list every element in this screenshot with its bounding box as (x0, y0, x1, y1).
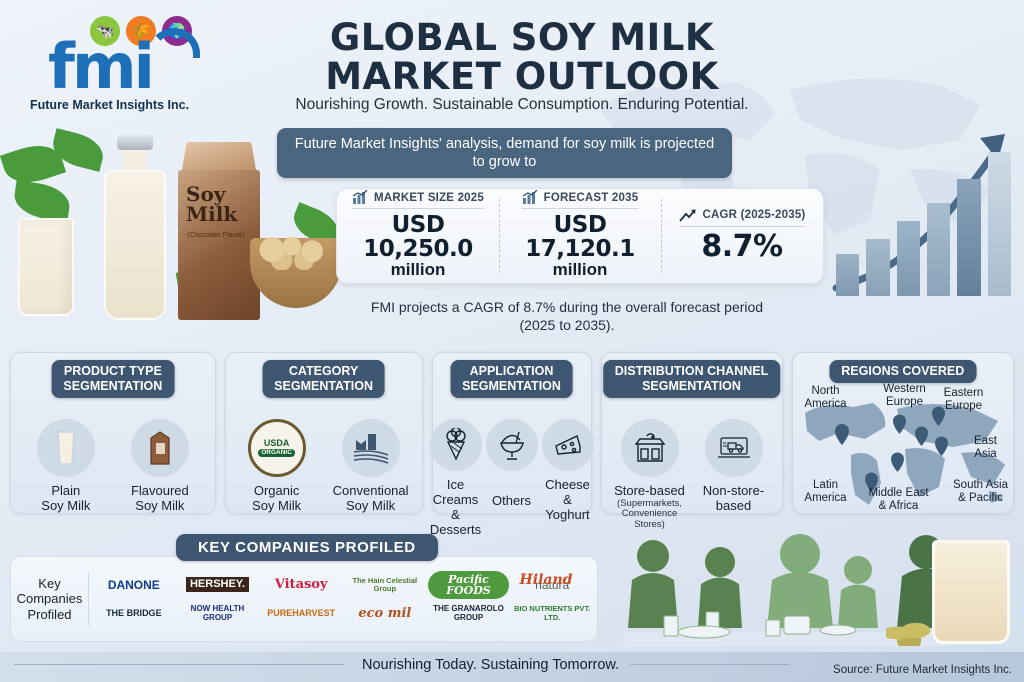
card-body: Ice Creams & Desserts (433, 381, 591, 544)
growth-bar (836, 254, 859, 296)
footer-tagline: Nourishing Today. Sustaining Tomorrow. (362, 657, 619, 673)
company-logo-vitasoy[interactable]: Vitasoy (260, 571, 342, 599)
soy-leaf-icon (12, 180, 72, 221)
logo-wordmark: fmi (48, 36, 152, 98)
footer-source: Source: Future Market Insights Inc. (833, 664, 1012, 676)
segment-label: Organic Soy Milk (252, 484, 301, 514)
carton-brand-text: Soy Milk (186, 184, 260, 224)
company-logo-bio-nutrients[interactable]: BIO NUTRIENTS PVT. LTD. (511, 600, 593, 628)
card-product-type: PRODUCT TYPE SEGMENTATION Plain Soy Milk (10, 352, 216, 514)
growth-bar (897, 221, 920, 296)
segment-item[interactable]: USDA ORGANIC Organic Soy Milk (235, 419, 319, 514)
card-header: CATEGORY SEGMENTATION (262, 360, 385, 398)
dessert-bowl-icon (486, 419, 538, 471)
segment-label-line-2: & Desserts (430, 508, 482, 538)
card-header-line-1: CATEGORY (274, 364, 373, 379)
bottle-cap (117, 134, 153, 150)
laptop-delivery-truck-icon (705, 419, 763, 477)
bar-chart-icon (522, 190, 538, 205)
card-body: Store-based (Supermarkets, Convenience S… (602, 381, 782, 536)
carton-brand-label: Soy Milk (186, 184, 260, 224)
card-header: APPLICATION SEGMENTATION (450, 360, 573, 398)
card-application: APPLICATION SEGMENTATION Ice Creams & De… (432, 352, 592, 514)
family-illustration (608, 528, 1024, 652)
card-header-line-2: SEGMENTATION (462, 379, 561, 394)
region-label-middle-east-africa: Middle East& Africa (863, 487, 935, 512)
stat-label: MARKET SIZE 2025 (374, 192, 484, 204)
soy-milk-glass-large (932, 540, 1010, 644)
stat-value: 8.7% (701, 232, 782, 263)
card-body: USDA ORGANIC Organic Soy Milk (226, 381, 422, 520)
cheese-wedge-icon (542, 419, 594, 471)
company-logo-hiland-badge[interactable]: Hiland (500, 560, 592, 600)
segment-item[interactable]: Plain Soy Milk (24, 419, 108, 514)
card-category: CATEGORY SEGMENTATION USDA ORGANIC Organ… (225, 352, 423, 514)
company-logo-pacific-foods[interactable]: Pacific FOODS (428, 571, 510, 599)
stat-market-size: MARKET SIZE 2025 USD 10,250.0 million (337, 189, 499, 283)
segment-item[interactable]: Non-store- based (694, 419, 774, 530)
ice-cream-cone-icon (430, 419, 482, 471)
stat-value: USD 10,250.0 (341, 214, 495, 261)
segment-label-line-2: based (703, 499, 764, 514)
stat-unit: million (553, 261, 608, 280)
soybean-pods (886, 620, 934, 646)
cagr-note: FMI projects a CAGR of 8.7% during the o… (352, 298, 782, 334)
segment-item[interactable]: Ice Creams & Desserts (430, 419, 482, 538)
milk-carton-icon (131, 419, 189, 477)
card-header-line-2: SEGMENTATION (274, 379, 373, 394)
segment-label-line-1: Conventional (333, 484, 409, 499)
stat-label: FORECAST 2035 (544, 192, 639, 204)
card-distribution-channel: DISTRIBUTION CHANNEL SEGMENTATION Store-… (601, 352, 783, 514)
company-logo-hershey[interactable]: HERSHEY. (177, 571, 259, 599)
company-logo-hain-celestial[interactable]: The Hain Celestial Group (344, 571, 426, 599)
region-label-east-asia: EastAsia (963, 435, 1009, 460)
product-photo-illustration: Soy Milk (Chocolate Flavor) (0, 118, 350, 340)
stat-header: CAGR (2025-2035) (679, 208, 806, 227)
usda-organic-icon: USDA ORGANIC (248, 419, 306, 477)
segment-label: Conventional Soy Milk (333, 484, 409, 514)
segment-label-line-1: Store-based (610, 484, 690, 499)
growth-bar (957, 179, 980, 296)
segment-label-line-2: Soy Milk (252, 499, 301, 514)
page-footer: Nourishing Today. Sustaining Tomorrow. S… (0, 648, 1024, 682)
storefront-icon (621, 419, 679, 477)
card-footer-label: Others (433, 493, 591, 508)
stat-value: USD 17,120.1 (503, 214, 657, 261)
stat-cagr: CAGR (2025-2035) 8.7% (661, 189, 823, 283)
segment-label-line-1: Non-store- (703, 484, 764, 499)
company-logo-granarolo[interactable]: THE GRANAROLO GROUP (428, 600, 510, 628)
footer-rule-right (630, 664, 790, 665)
card-regions-covered: REGIONS COVERED (792, 352, 1015, 514)
stat-header: MARKET SIZE 2025 (352, 190, 484, 209)
soybeans (256, 236, 336, 270)
milk-glass-icon (37, 419, 95, 477)
segment-label: Store-based (Supermarkets, Convenience S… (610, 484, 690, 530)
logo-subtitle: Future Market Insights Inc. (30, 98, 189, 112)
growth-bar (988, 152, 1011, 296)
stat-forecast: FORECAST 2035 USD 17,120.1 million (499, 189, 661, 283)
fmi-logo: 🐄 🌾 🌍 fmi Future Market Insights Inc. (28, 12, 208, 112)
card-header: PRODUCT TYPE SEGMENTATION (51, 360, 174, 398)
usda-text: USDA (258, 439, 295, 448)
segment-label-line-2: Soy Milk (41, 499, 90, 514)
segment-item[interactable]: Conventional Soy Milk (329, 419, 413, 514)
regions-world-map: NorthAmerica WesternEurope EasternEurope… (793, 383, 1014, 513)
segment-item[interactable]: Flavoured Soy Milk (118, 419, 202, 514)
soy-milk-carton: Soy Milk (Chocolate Flavor) (178, 140, 260, 320)
segment-label-line-2: Yoghurt (542, 508, 594, 523)
company-logo-now-health-group[interactable]: NOW HEALTH GROUP (177, 600, 259, 628)
company-logo-pureharvest[interactable]: PUREHARVEST (260, 600, 342, 628)
region-label-south-asia-pacific: South Asia& Pacific (947, 479, 1015, 504)
segment-label-line-1: Organic (252, 484, 301, 499)
growth-bars (836, 146, 1011, 296)
segment-label-line-2: Soy Milk (333, 499, 409, 514)
card-header: DISTRIBUTION CHANNEL SEGMENTATION (603, 360, 780, 398)
card-header-line-1: REGIONS COVERED (841, 364, 964, 379)
stat-header: FORECAST 2035 (522, 190, 639, 209)
organic-text: ORGANIC (258, 449, 295, 458)
factory-farm-icon (342, 419, 400, 477)
bottle-body (104, 170, 166, 320)
soy-milk-bottle (104, 128, 166, 320)
segment-item[interactable]: Cheese & Yoghurt (542, 419, 594, 538)
segmentation-cards: PRODUCT TYPE SEGMENTATION Plain Soy Milk (10, 352, 1014, 514)
segment-label-line-1: Flavoured (131, 484, 189, 499)
title-line-2: MARKET OUTLOOK (262, 57, 782, 96)
footer-rule-left (14, 664, 344, 665)
segment-label: Flavoured Soy Milk (131, 484, 189, 514)
card-header-line-2: SEGMENTATION (63, 379, 162, 394)
soy-milk-glass (18, 218, 74, 316)
region-label-north-america: NorthAmerica (797, 385, 855, 410)
region-label-latin-america: LatinAmerica (799, 479, 853, 504)
segment-item[interactable] (486, 419, 538, 538)
card-body: Plain Soy Milk Flavoured Soy Milk (11, 381, 215, 520)
company-logo-danone[interactable]: DANONE (93, 571, 175, 599)
segment-item[interactable]: Store-based (Supermarkets, Convenience S… (610, 419, 690, 530)
key-stats-panel: MARKET SIZE 2025 USD 10,250.0 million FO… (336, 188, 824, 284)
growth-bar (927, 203, 950, 296)
card-header-line-1: APPLICATION (462, 364, 561, 379)
region-label-eastern-europe: EasternEurope (937, 387, 991, 412)
card-header-line-2: SEGMENTATION (615, 379, 768, 394)
segment-label-line-2: Soy Milk (131, 499, 189, 514)
growth-chart (830, 120, 1015, 310)
region-label-western-europe: WesternEurope (877, 383, 933, 408)
segment-label: Non-store- based (703, 484, 764, 514)
company-logo-the-bridge[interactable]: THE BRIDGE (93, 600, 175, 628)
stat-unit: million (391, 261, 446, 280)
bar-chart-icon (352, 190, 368, 205)
stat-label: CAGR (2025-2035) (703, 209, 806, 221)
card-header-line-1: PRODUCT TYPE (63, 364, 162, 379)
page-title: GLOBAL SOY MILK MARKET OUTLOOK (262, 18, 782, 96)
growth-bar (866, 239, 889, 296)
title-line-1: GLOBAL SOY MILK (262, 18, 782, 57)
key-companies-header: KEY COMPANIES PROFILED (176, 534, 438, 561)
trend-arrow-icon (679, 208, 697, 223)
card-header-line-1: DISTRIBUTION CHANNEL (615, 364, 768, 379)
infographic-page: 🐄 🌾 🌍 fmi Future Market Insights Inc. GL… (0, 0, 1024, 682)
card-header: REGIONS COVERED (829, 360, 976, 383)
company-logo-ecomil[interactable]: eco mil (344, 600, 426, 628)
segment-label-line-1: Plain (41, 484, 90, 499)
carton-flavour-label: (Chocolate Flavor) (187, 232, 245, 239)
page-subtitle: Nourishing Growth. Sustainable Consumpti… (232, 96, 812, 114)
key-companies-left-label: Key Companies Profiled (11, 572, 89, 627)
segment-label: Plain Soy Milk (41, 484, 90, 514)
